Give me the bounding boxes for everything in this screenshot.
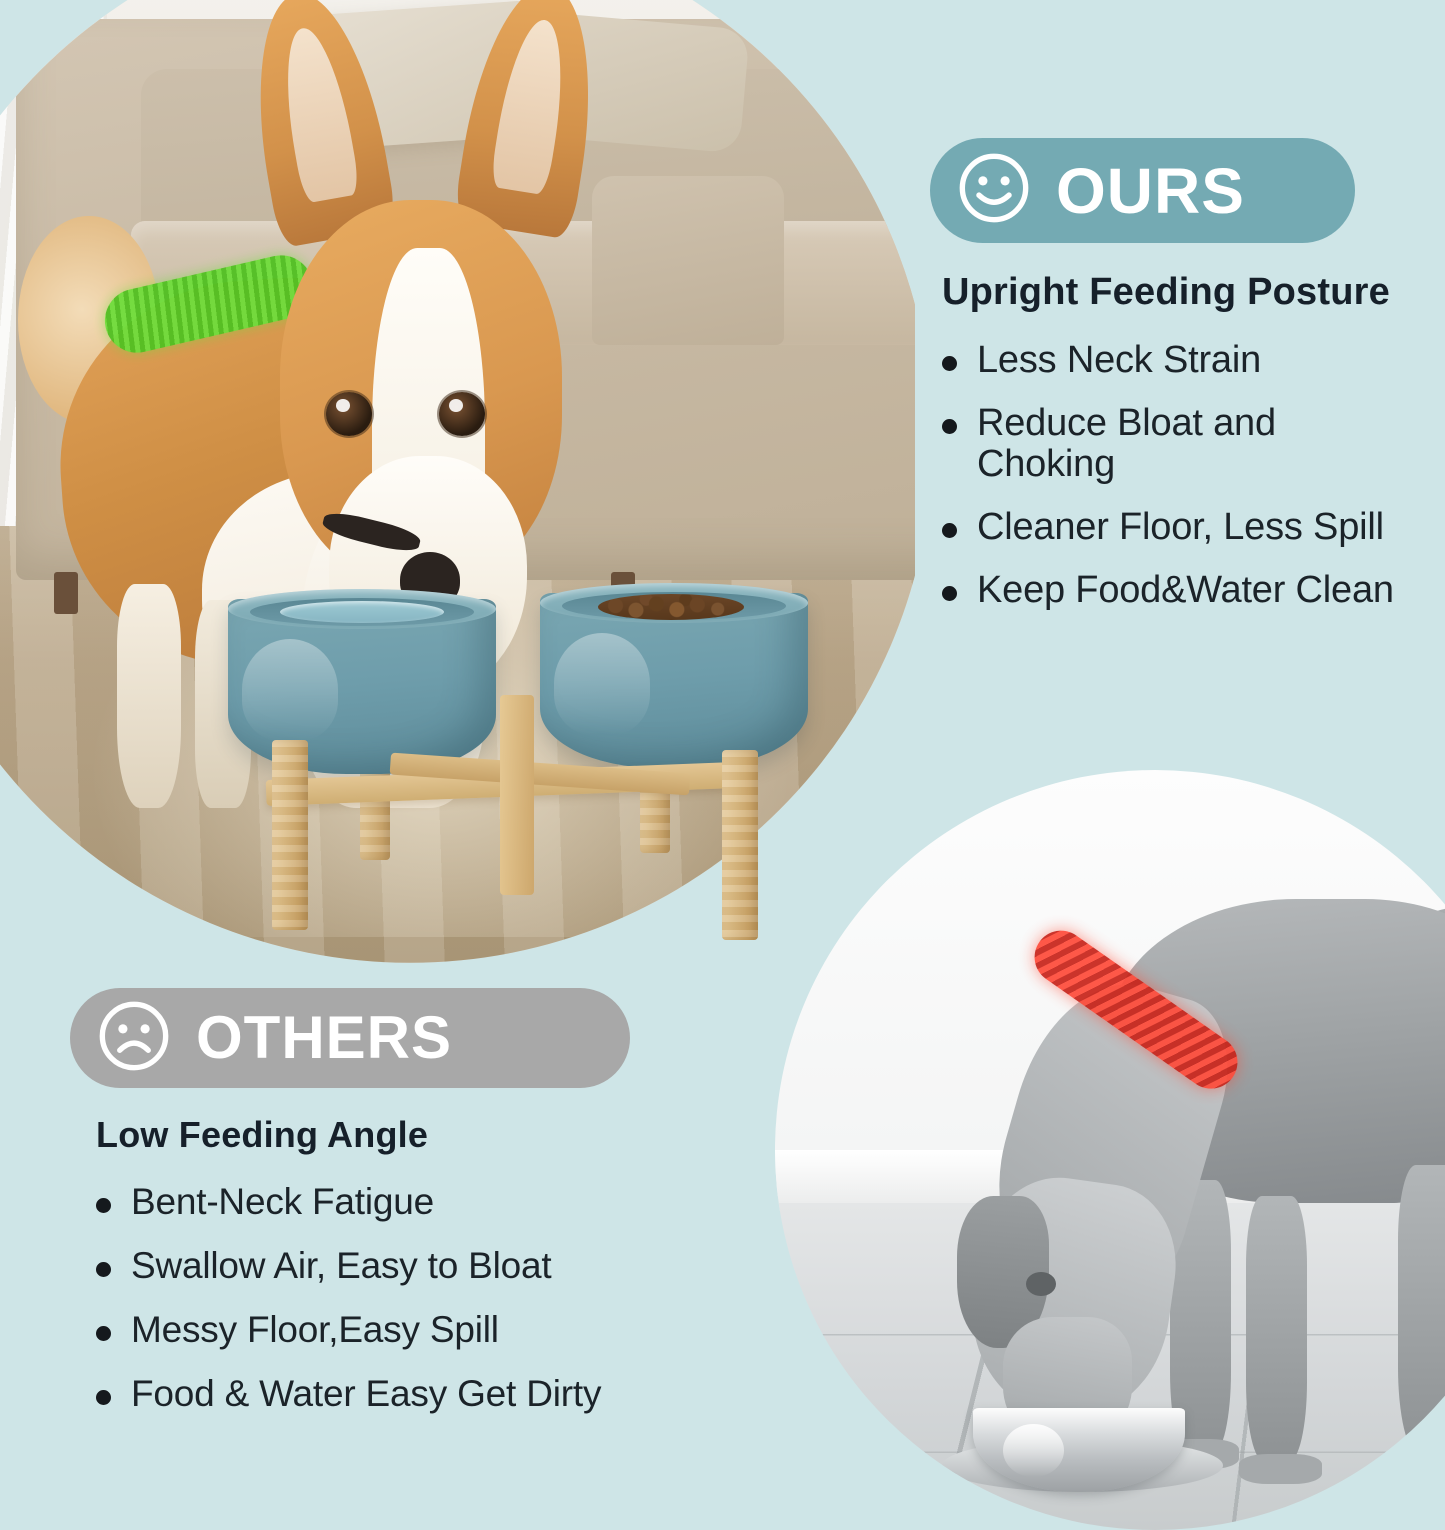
others-panel: OTHERS Low Feeding Angle Bent-Neck Fatig…: [70, 988, 690, 1438]
dog-inner-ear: [275, 23, 362, 204]
list-item-label: Keep Food&Water Clean: [977, 570, 1394, 611]
dog-eye: [1026, 1272, 1056, 1296]
ours-panel: OURS Upright Feeding Posture Less Neck S…: [930, 138, 1400, 633]
dog-bending-to-floor-bowl-photo: [775, 770, 1445, 1530]
bullet-dot-icon: [942, 356, 957, 371]
list-item: Less Neck Strain: [942, 340, 1400, 381]
food-bowl: [540, 593, 808, 768]
list-item: Reduce Bloat and Choking: [942, 403, 1400, 485]
ours-benefit-list: Less Neck Strain Reduce Bloat and Chokin…: [942, 340, 1400, 611]
ours-badge-label: OURS: [1056, 159, 1245, 223]
smiley-face-icon: [956, 150, 1032, 231]
list-item: Keep Food&Water Clean: [942, 570, 1400, 611]
others-drawback-list: Bent-Neck Fatigue Swallow Air, Easy to B…: [96, 1182, 690, 1414]
bullet-dot-icon: [96, 1326, 111, 1341]
list-item: Messy Floor,Easy Spill: [96, 1310, 690, 1350]
dog-front-leg: [117, 584, 181, 808]
dog-paw: [1239, 1454, 1323, 1484]
list-item-label: Less Neck Strain: [977, 340, 1261, 381]
others-badge-label: OTHERS: [196, 1008, 452, 1068]
steel-bowl-highlight: [1003, 1424, 1064, 1477]
water-bowl: [228, 599, 496, 774]
list-item-label: Food & Water Easy Get Dirty: [131, 1374, 601, 1414]
ours-badge: OURS: [930, 138, 1355, 243]
infographic-canvas: OURS Upright Feeding Posture Less Neck S…: [0, 0, 1445, 1445]
list-item-label: Swallow Air, Easy to Bloat: [131, 1246, 552, 1286]
frowning-face-icon: [96, 998, 172, 1079]
bullet-dot-icon: [942, 523, 957, 538]
water-content: [280, 601, 444, 623]
bowl-interior: [562, 592, 786, 620]
stand-leg-front-left: [272, 740, 308, 930]
bullet-dot-icon: [942, 419, 957, 434]
others-badge: OTHERS: [70, 988, 630, 1088]
list-item-label: Bent-Neck Fatigue: [131, 1182, 434, 1222]
bullet-dot-icon: [96, 1262, 111, 1277]
bullet-dot-icon: [942, 586, 957, 601]
others-heading: Low Feeding Angle: [96, 1114, 690, 1156]
bullet-dot-icon: [96, 1198, 111, 1213]
list-item: Bent-Neck Fatigue: [96, 1182, 690, 1222]
list-item: Cleaner Floor, Less Spill: [942, 507, 1400, 548]
ours-heading: Upright Feeding Posture: [942, 271, 1400, 314]
list-item: Swallow Air, Easy to Bloat: [96, 1246, 690, 1286]
bowl-interior: [250, 598, 474, 626]
dog-back-leg: [1398, 1165, 1445, 1454]
stand-leg-front-right: [722, 750, 758, 940]
bowl-gloss: [242, 639, 338, 741]
dog-eye-left: [326, 392, 372, 436]
dog-eye-right: [439, 392, 485, 436]
elevated-double-bowl-stand-product: [210, 575, 850, 975]
bullet-dot-icon: [96, 1390, 111, 1405]
dog-front-leg: [1246, 1196, 1307, 1462]
stand-center-post: [500, 695, 534, 895]
list-item-label: Messy Floor,Easy Spill: [131, 1310, 499, 1350]
list-item: Food & Water Easy Get Dirty: [96, 1374, 690, 1414]
list-item-label: Cleaner Floor, Less Spill: [977, 507, 1384, 548]
dog-inner-ear: [489, 16, 573, 196]
bowl-gloss: [554, 633, 650, 735]
list-item-label: Reduce Bloat and Choking: [977, 403, 1400, 485]
kibble-food-content: [598, 594, 744, 620]
